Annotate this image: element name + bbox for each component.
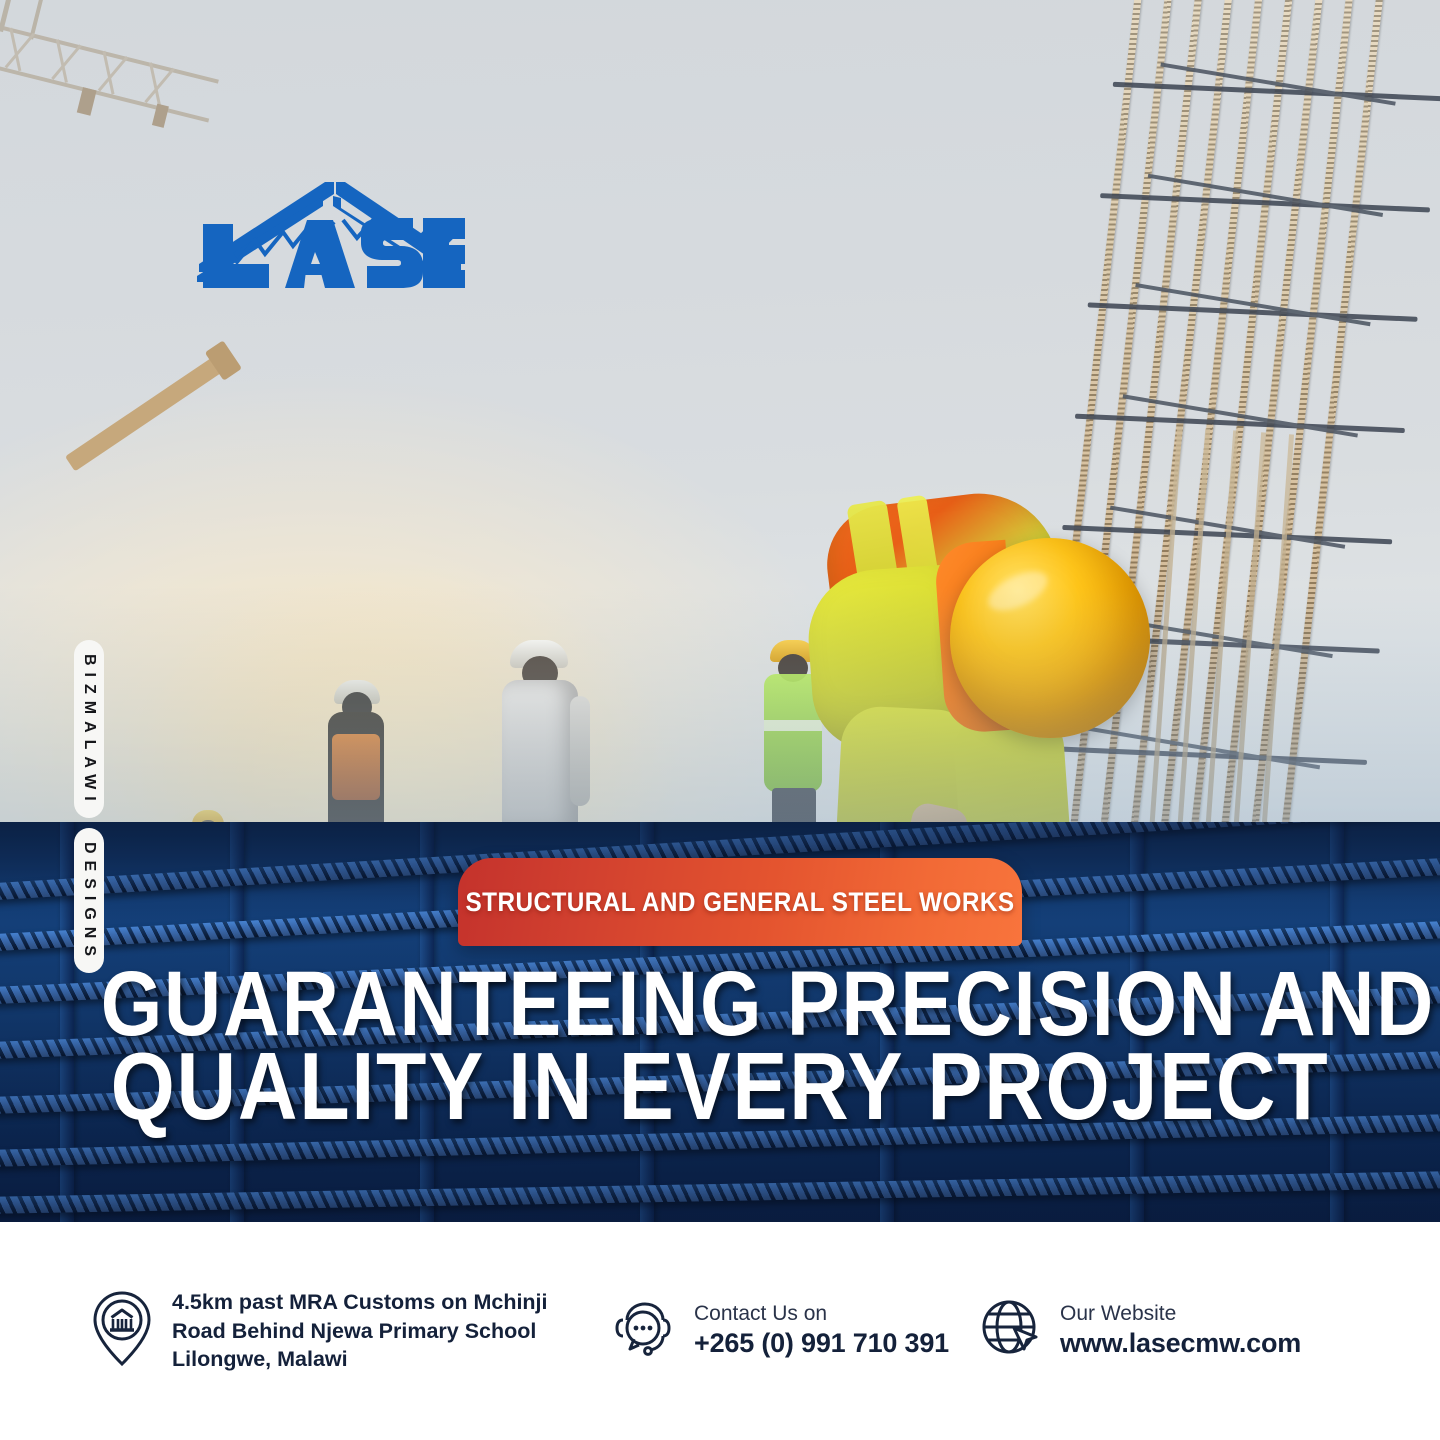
truss-roof-icon: [193, 172, 465, 290]
phone-label: Contact Us on: [694, 1301, 949, 1327]
service-badge-label: STRUCTURAL AND GENERAL STEEL WORKS: [465, 889, 1014, 916]
watermark-bizmalawi-designs: BIZMALAWI DESIGNS: [66, 640, 112, 973]
globe-cursor-icon: [980, 1298, 1042, 1365]
headline-line-2: QUALITY IN EVERY PROJECT: [101, 1043, 1339, 1131]
footer-phone-text: Contact Us on +265 (0) 991 710 391: [694, 1301, 949, 1361]
website-label: Our Website: [1060, 1301, 1301, 1327]
lasec-logo[interactable]: [193, 172, 465, 290]
footer-website-text: Our Website www.lasecmw.com: [1060, 1301, 1301, 1361]
address-line-2: Road Behind Njewa Primary School: [172, 1317, 548, 1346]
phone-number: +265 (0) 991 710 391: [694, 1327, 949, 1361]
footer-phone[interactable]: Contact Us on +265 (0) 991 710 391: [610, 1298, 980, 1365]
website-url: www.lasecmw.com: [1060, 1327, 1301, 1361]
address-line-1: 4.5km past MRA Customs on Mchinji: [172, 1288, 548, 1317]
footer-address: 4.5km past MRA Customs on Mchinji Road B…: [90, 1288, 610, 1374]
headline: GUARANTEEING PRECISION AND QUALITY IN EV…: [0, 962, 1440, 1131]
headset-support-icon: [610, 1298, 676, 1365]
footer-address-text: 4.5km past MRA Customs on Mchinji Road B…: [172, 1288, 548, 1374]
address-line-3: Lilongwe, Malawi: [172, 1345, 548, 1374]
watermark-line-2: DESIGNS: [74, 828, 104, 973]
location-pin-building-icon: [90, 1290, 154, 1373]
footer-website[interactable]: Our Website www.lasecmw.com: [980, 1298, 1350, 1365]
promotional-poster: BIZMALAWI DESIGNS STRUCTURAL AND GENERAL…: [0, 0, 1440, 1440]
contact-footer: 4.5km past MRA Customs on Mchinji Road B…: [0, 1222, 1440, 1440]
watermark-line-1: BIZMALAWI: [74, 640, 104, 818]
service-badge: STRUCTURAL AND GENERAL STEEL WORKS: [458, 858, 1022, 946]
